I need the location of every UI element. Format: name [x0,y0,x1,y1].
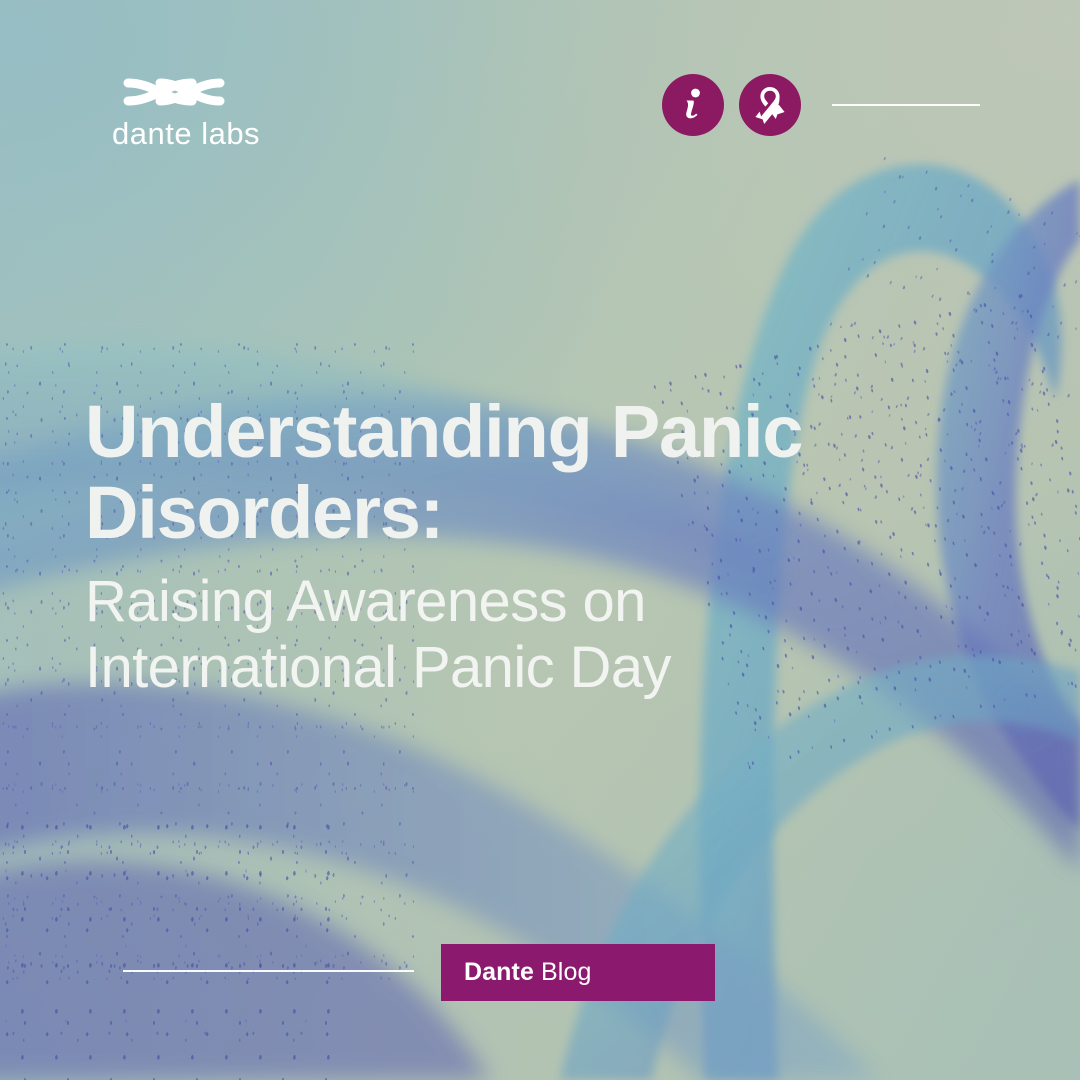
info-icon [676,86,710,124]
cta-label-bold: Dante [464,958,534,986]
brand-wordmark: dante labs [112,118,302,149]
page-subtitle: Raising Awareness on International Panic… [85,569,965,700]
page-title: Understanding Panic Disorders: [85,392,965,553]
cta-label: Dante Blog [464,960,591,985]
helix-connector-strand [560,656,1080,1080]
awareness-ribbon-icon-button[interactable] [739,74,801,136]
dante-helix-mark-icon [120,72,228,112]
header-icon-row [662,74,980,136]
cta-label-regular: Blog [541,958,591,986]
info-icon-button[interactable] [662,74,724,136]
title-block: Understanding Panic Disorders: Raising A… [85,392,965,700]
cta-label-space [534,958,541,986]
brand-logo[interactable]: dante labs [112,72,302,149]
social-card-canvas: dante labs Understanding Panic Disorders… [0,0,1080,1080]
footer-rule [123,970,414,972]
dante-blog-cta-button[interactable]: Dante Blog [441,944,715,1001]
header-rule [832,104,980,106]
awareness-ribbon-icon [753,85,787,125]
